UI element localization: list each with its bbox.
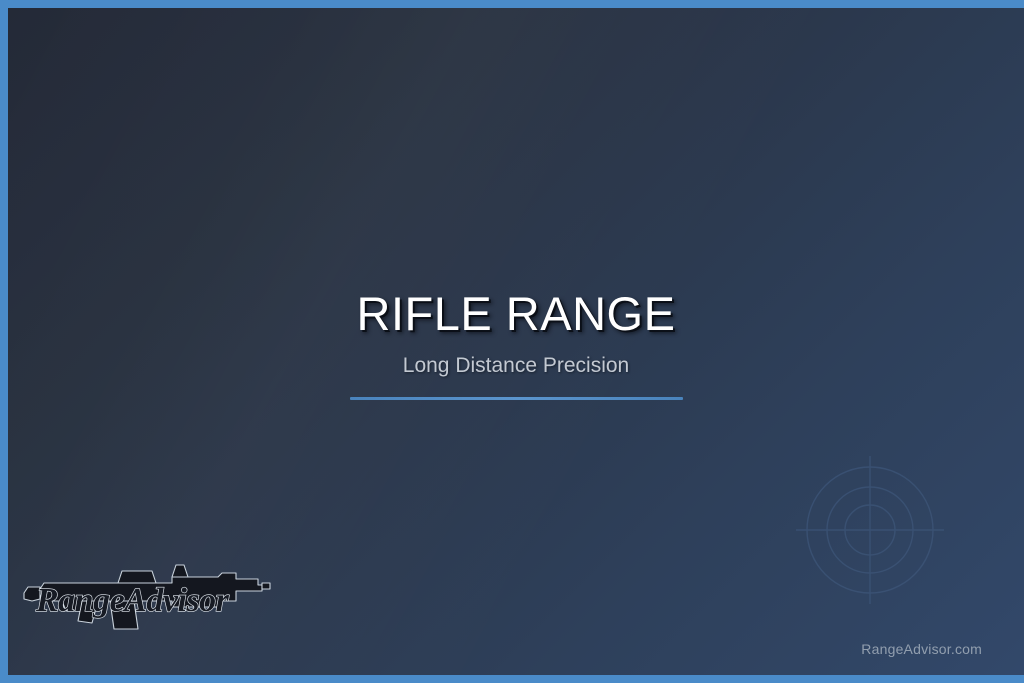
accent-rule [350,397,683,400]
slide-frame: RIFLE RANGE Long Distance Precision [0,0,1024,683]
logo-wordmark: RangeAdvisor [35,582,230,619]
slide-canvas: RIFLE RANGE Long Distance Precision [8,8,1024,675]
page-title: RIFLE RANGE [8,290,1024,337]
site-watermark: RangeAdvisor.com [861,641,982,657]
page-subtitle: Long Distance Precision [8,355,1024,376]
title-block: RIFLE RANGE Long Distance Precision [8,290,1024,400]
brand-logo: RangeAdvisor [22,555,272,641]
